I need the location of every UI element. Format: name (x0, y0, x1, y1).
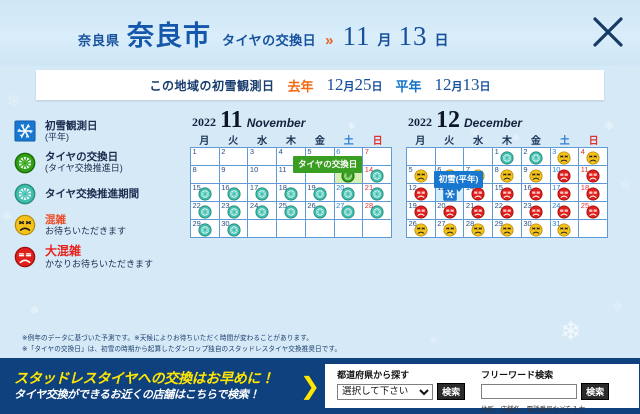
badge-pointer (345, 172, 353, 177)
calendar-day-cell[interactable]: 5 (407, 166, 436, 184)
calendar-november: 202211November月火水木金土日12345678910111213タイ… (190, 106, 392, 238)
day-number: 2 (221, 148, 225, 156)
prefecture-search-button[interactable]: 検索 (437, 383, 465, 400)
calendar-day-cell[interactable]: 25 (277, 202, 306, 220)
day-number: 18 (581, 184, 589, 192)
weekday-label: 金 (305, 132, 334, 147)
calendar-day-cell[interactable]: 24 (248, 202, 277, 220)
calendar-cell-empty (306, 220, 335, 238)
day-number: 30 (523, 220, 531, 228)
calendar-cell-empty (407, 148, 436, 166)
snowflake-square-icon (14, 120, 36, 142)
legend-item-text: 初雪観測日(平年) (45, 120, 98, 142)
calendar-badge: タイヤの交換日 (293, 156, 362, 173)
prefecture-select[interactable]: 選択して下さい (337, 384, 433, 400)
calendar-cell-empty (464, 148, 493, 166)
face-yellow-icon (586, 151, 600, 165)
last-year-date: 12月25日 (327, 75, 383, 95)
legend-item-subtitle: (平年) (45, 132, 98, 142)
freeword-search-button[interactable]: 検索 (581, 383, 609, 400)
day-number: 23 (221, 202, 229, 210)
weekday-label: 木 (493, 132, 522, 147)
last-year-tag: 去年 (287, 76, 313, 95)
chevron-right-icon: » (325, 32, 333, 49)
day-number: 23 (523, 202, 531, 210)
day-number: 14 (365, 166, 373, 174)
day-number: 8 (193, 166, 197, 174)
face-yellow-icon (557, 151, 571, 165)
day-number: 27 (437, 220, 445, 228)
day-number: 29 (193, 220, 201, 228)
calendar-day-cell[interactable]: 31 (551, 220, 580, 238)
calendar-day-cell[interactable]: 10 (551, 166, 580, 184)
calendar-day-cell[interactable]: 4 (579, 148, 608, 166)
calendar-day-cell[interactable]: 30 (522, 220, 551, 238)
day-number: 25 (581, 202, 589, 210)
day-number: 3 (250, 148, 254, 156)
legend-item-0: 初雪観測日(平年) (14, 120, 186, 142)
day-number: 2 (523, 148, 527, 156)
day-number: 21 (466, 202, 474, 210)
day-number: 11 (581, 166, 589, 174)
calendar-day-cell[interactable]: 13タイヤの交換日 (335, 166, 364, 184)
calendar-day-cell[interactable]: 26 (407, 220, 436, 238)
calendar-day-cell[interactable]: 16 (220, 184, 249, 202)
legend-item-3: 混雑お待ちいただきます (14, 214, 186, 236)
legend-item-1: タイヤの交換日(タイヤ交換推進日) (14, 151, 186, 173)
weekday-label: 水 (464, 132, 493, 147)
header-day-value: 13 (398, 21, 427, 52)
day-number: 17 (250, 184, 258, 192)
day-number: 16 (523, 184, 531, 192)
calendar-day-cell[interactable]: 12 (407, 184, 436, 202)
calendar-day-cell[interactable]: 26 (306, 202, 335, 220)
promo-text: スタッドレスタイヤへの交換はお早めに！ タイヤ交換ができるお近くの店舗はこちらで… (0, 370, 300, 402)
calendar-header: 202212December (406, 106, 608, 130)
prefecture-search-group: 都道府県から探す 選択して下さい 検索 (337, 368, 465, 400)
face-red-icon (14, 246, 36, 268)
calendar-day-cell[interactable]: 1 (493, 148, 522, 166)
legend-item-title: 大混雑 (45, 245, 153, 259)
day-number: 19 (307, 184, 315, 192)
calendar-cell-empty (363, 220, 392, 238)
calendar-month-number: 12 (436, 110, 460, 130)
calendar-day-cell[interactable]: 27 (436, 220, 465, 238)
calendar-cell-empty (277, 220, 306, 238)
day-number: 24 (250, 202, 258, 210)
face-yellow-icon (529, 169, 543, 183)
calendar-day-cell[interactable]: 7 (363, 148, 392, 166)
legend-item-subtitle: (タイヤ交換推進日) (45, 163, 123, 173)
tire-change-calendar-popup: ❄❄❄❄❄❄❄❄❄❄❄❄❄❄❄❄❄❄❄❄❄❄❄❄❄ 奈良県 奈良市 タイヤの交換… (0, 0, 640, 414)
calendar-day-cell[interactable]: 9 (522, 166, 551, 184)
weekday-header-row: 月火水木金土日 (190, 132, 392, 147)
weekday-label: 木 (277, 132, 306, 147)
weekday-label: 水 (248, 132, 277, 147)
calendar-day-cell[interactable]: 20 (335, 184, 364, 202)
legend-item-text: タイヤ交換推進期間 (45, 188, 139, 200)
day-number: 8 (495, 166, 499, 174)
day-number: 7 (365, 148, 369, 156)
calendar-cell-empty (335, 220, 364, 238)
disclaimer-line-1: ※例年のデータに基づいた予測です。※天候によりお待ちいただく時間が変わることがあ… (22, 333, 640, 345)
calendar-day-cell[interactable]: 2 (522, 148, 551, 166)
city-label: 奈良市 (127, 14, 211, 53)
calendar-december: 202212December月火水木金土日12345678910111213初雪… (406, 106, 608, 238)
calendar-day-cell[interactable]: 16 (522, 184, 551, 202)
calendar-day-cell[interactable]: 24 (551, 202, 580, 220)
day-number: 12 (409, 184, 417, 192)
first-snow-info-bar: この地域の初雪観測日 去年 12月25日 平年 12月13日 (36, 70, 604, 100)
face-yellow-icon (414, 169, 428, 183)
day-number: 1 (193, 148, 197, 156)
badge-pointer (455, 187, 463, 192)
day-number: 28 (466, 220, 474, 228)
day-number: 18 (279, 184, 287, 192)
calendar-day-cell[interactable]: 19 (306, 184, 335, 202)
day-number: 9 (221, 166, 225, 174)
calendar-day-cell[interactable]: 17 (248, 184, 277, 202)
legend-item-title: タイヤの交換日 (45, 151, 123, 163)
day-number: 22 (193, 202, 201, 210)
weekday-header-row: 月火水木金土日 (406, 132, 608, 147)
weekday-label: 日 (363, 132, 392, 147)
freeword-search-group: フリーワード検索 検索 住所、店舗名、電話番号などを入力 (481, 368, 609, 413)
day-number: 15 (495, 184, 503, 192)
calendar-day-cell[interactable]: 2 (220, 148, 249, 166)
chevron-right-icon: ❯ (300, 372, 320, 401)
calendar-month-number: 11 (220, 110, 243, 130)
day-number: 9 (523, 166, 527, 174)
weekday-label: 月 (190, 132, 219, 147)
store-search-box: 都道府県から探す 選択して下さい 検索 フリーワード検索 検索 住所、店舗名、電… (324, 363, 640, 409)
legend-item-subtitle: お待ちいただきます (45, 226, 126, 236)
day-number: 25 (279, 202, 287, 210)
weekday-label: 火 (435, 132, 464, 147)
legend-item-title: 初雪観測日 (45, 120, 98, 132)
day-number: 10 (552, 166, 560, 174)
calendar-cell-empty (436, 148, 465, 166)
calendar-cell-empty (579, 220, 608, 238)
legend-item-title: 混雑 (45, 214, 126, 226)
calendar-header: 202211November (190, 106, 392, 130)
header-keyword: タイヤの交換日 (222, 30, 316, 49)
calendar-day-cell[interactable]: 22 (191, 202, 220, 220)
calendar-day-cell[interactable]: 28 (363, 202, 392, 220)
promo-subline: タイヤ交換ができるお近くの店舗はこちらで検索！ (14, 388, 300, 402)
legend-item-title: タイヤ交換推進期間 (45, 188, 139, 200)
footer-search-bar: スタッドレスタイヤへの交換はお早めに！ タイヤ交換ができるお近くの店舗はこちらで… (0, 358, 640, 414)
calendar-grid: 12345678910111213タイヤの交換日1415161718192021… (190, 147, 392, 238)
calendar-day-cell[interactable]: 25 (579, 202, 608, 220)
calendar-year: 2022 (192, 115, 216, 130)
calendar-day-cell[interactable]: 8 (191, 166, 220, 184)
legend-item-text: 大混雑かなりお待ちいただきます (45, 245, 153, 269)
day-number: 5 (409, 166, 413, 174)
day-number: 26 (409, 220, 417, 228)
day-number: 10 (250, 166, 258, 174)
day-number: 3 (552, 148, 556, 156)
face-yellow-icon (500, 169, 514, 183)
freeword-search-label: フリーワード検索 (481, 368, 609, 381)
promo-headline: スタッドレスタイヤへの交換はお早めに！ (14, 370, 300, 388)
tire-teal-icon (529, 151, 543, 165)
day-number: 28 (365, 202, 373, 210)
day-number: 17 (552, 184, 560, 192)
face-yellow-icon (14, 214, 36, 236)
calendar-day-cell[interactable]: 13初雪(平年) (436, 184, 465, 202)
calendar-day-cell[interactable]: 8 (493, 166, 522, 184)
day-number: 20 (437, 202, 445, 210)
disclaimer-line-2: ※「タイヤの交換日」は、初雪の時期から起算したダンロップ独自のスタッドレスタイヤ… (22, 344, 640, 356)
header-title-row: 奈良県 奈良市 タイヤの交換日 » 11 月 13 日 (0, 14, 448, 53)
calendar-day-cell[interactable]: 20 (436, 202, 465, 220)
average-year-date: 12月13日 (435, 75, 491, 95)
calendar-day-cell[interactable]: 9 (220, 166, 249, 184)
day-number: 24 (552, 202, 560, 210)
tire-teal-icon (500, 151, 514, 165)
day-number: 31 (552, 220, 560, 228)
calendar-day-cell[interactable]: 1 (191, 148, 220, 166)
weekday-label: 土 (334, 132, 363, 147)
day-number: 16 (221, 184, 229, 192)
legend-item-text: タイヤの交換日(タイヤ交換推進日) (45, 151, 123, 173)
weekday-label: 土 (550, 132, 579, 147)
day-number: 20 (336, 184, 344, 192)
freeword-search-hint: 住所、店舗名、電話番号などを入力 (481, 403, 609, 413)
day-number: 6 (336, 148, 340, 156)
calendar-day-cell[interactable]: 3 (248, 148, 277, 166)
calendar-day-cell[interactable]: 29 (191, 220, 220, 238)
calendar-month-name: December (464, 116, 522, 130)
freeword-search-line: 検索 (481, 383, 609, 400)
calendar-day-cell[interactable]: 23 (220, 202, 249, 220)
legend-item-2: タイヤ交換推進期間 (14, 183, 186, 205)
calendar-day-cell[interactable]: 10 (248, 166, 277, 184)
legend-item-text: 混雑お待ちいただきます (45, 214, 126, 236)
day-number: 4 (581, 148, 585, 156)
calendar-day-cell[interactable]: 21 (363, 184, 392, 202)
close-icon[interactable] (590, 14, 626, 50)
header-month-unit: 月 (377, 30, 391, 50)
legend-item-subtitle: かなりお待ちいただきます (45, 259, 153, 269)
calendar-grid: 12345678910111213初雪(平年)14151617181920212… (406, 147, 608, 238)
average-year-tag: 平年 (396, 76, 422, 95)
calendar-day-cell[interactable]: 17 (551, 184, 580, 202)
popup-body: 初雪観測日(平年)タイヤの交換日(タイヤ交換推進日)タイヤ交換推進期間混雑お待ち… (0, 102, 640, 318)
legend-item-4: 大混雑かなりお待ちいただきます (14, 245, 186, 269)
calendar-day-cell[interactable]: 27 (335, 202, 364, 220)
day-number: 1 (495, 148, 499, 156)
calendar-day-cell[interactable]: 18 (579, 184, 608, 202)
calendar-year: 2022 (408, 115, 432, 130)
calendar-day-cell[interactable]: 30 (220, 220, 249, 238)
freeword-search-input[interactable] (481, 384, 577, 399)
prefecture-search-label: 都道府県から探す (337, 368, 465, 381)
calendar-day-cell[interactable]: 11 (579, 166, 608, 184)
calendar-day-cell[interactable]: 15 (493, 184, 522, 202)
tire-teal-icon (14, 183, 36, 205)
calendar-badge: 初雪(平年) (434, 171, 484, 188)
legend: 初雪観測日(平年)タイヤの交換日(タイヤ交換推進日)タイヤ交換推進期間混雑お待ち… (14, 120, 186, 269)
calendar-cell-empty (248, 220, 277, 238)
prefecture-label: 奈良県 (78, 30, 120, 49)
calendar-day-cell[interactable]: 19 (407, 202, 436, 220)
calendar-day-cell[interactable]: 22 (493, 202, 522, 220)
calendar-day-cell[interactable]: 21 (464, 202, 493, 220)
calendar-day-cell[interactable]: 15 (191, 184, 220, 202)
day-number: 19 (409, 202, 417, 210)
day-number: 22 (495, 202, 503, 210)
header-day-unit: 日 (434, 30, 448, 50)
tire-green-icon (14, 152, 36, 174)
day-number: 27 (336, 202, 344, 210)
day-number: 30 (221, 220, 229, 228)
weekday-label: 月 (406, 132, 435, 147)
calendar-day-cell[interactable]: 28 (464, 220, 493, 238)
day-number: 11 (279, 166, 287, 174)
first-snow-label: この地域の初雪観測日 (149, 77, 274, 94)
disclaimer: ※例年のデータに基づいた予測です。※天候によりお待ちいただく時間が変わることがあ… (0, 331, 640, 356)
day-number: 4 (279, 148, 283, 156)
popup-header: 奈良県 奈良市 タイヤの交換日 » 11 月 13 日 (0, 0, 640, 66)
day-number: 5 (307, 148, 311, 156)
calendar-day-cell[interactable]: 23 (522, 202, 551, 220)
day-number: 29 (495, 220, 503, 228)
calendar-day-cell[interactable]: 14 (363, 166, 392, 184)
day-number: 21 (365, 184, 373, 192)
weekday-label: 金 (521, 132, 550, 147)
day-number: 26 (307, 202, 315, 210)
calendar-month-name: November (247, 116, 306, 130)
header-month-value: 11 (342, 21, 370, 52)
day-number: 15 (193, 184, 201, 192)
calendar-day-cell[interactable]: 29 (493, 220, 522, 238)
weekday-label: 日 (579, 132, 608, 147)
weekday-label: 火 (219, 132, 248, 147)
prefecture-search-line: 選択して下さい 検索 (337, 383, 465, 400)
calendar-day-cell[interactable]: 18 (277, 184, 306, 202)
calendar-day-cell[interactable]: 3 (551, 148, 580, 166)
